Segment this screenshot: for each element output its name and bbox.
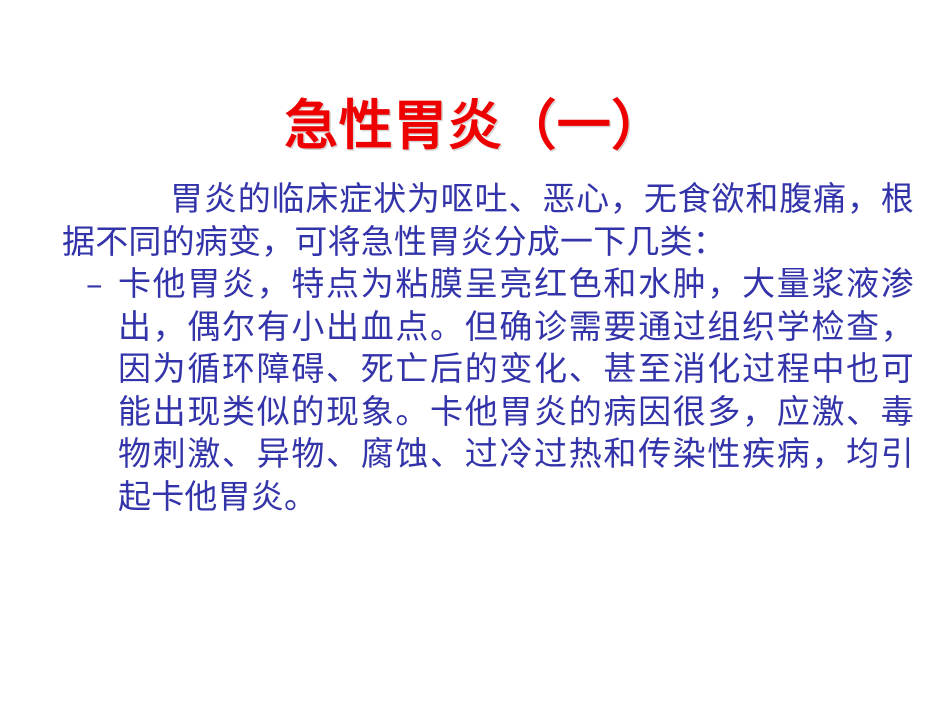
bullet-item-catarrhal-gastritis: – 卡他胃炎，特点为粘膜呈亮红色和水肿，大量浆液渗出，偶尔有小出血点。但确诊需要… [62, 263, 914, 518]
lead-paragraph: 胃炎的临床症状为呕吐、恶心，无食欲和腹痛，根据不同的病变，可将急性胃炎分成一下几… [62, 178, 914, 263]
bullet-item-text: 卡他胃炎，特点为粘膜呈亮红色和水肿，大量浆液渗出，偶尔有小出血点。但确诊需要通过… [118, 263, 914, 518]
bullet-list: – 卡他胃炎，特点为粘膜呈亮红色和水肿，大量浆液渗出，偶尔有小出血点。但确诊需要… [62, 263, 914, 518]
bullet-dash-icon: – [86, 263, 114, 306]
presentation-slide: 急性胃炎（一） 胃炎的临床症状为呕吐、恶心，无食欲和腹痛，根据不同的病变，可将急… [0, 0, 950, 713]
slide-title: 急性胃炎（一） [0, 94, 950, 156]
slide-body: 胃炎的临床症状为呕吐、恶心，无食欲和腹痛，根据不同的病变，可将急性胃炎分成一下几… [62, 178, 914, 518]
